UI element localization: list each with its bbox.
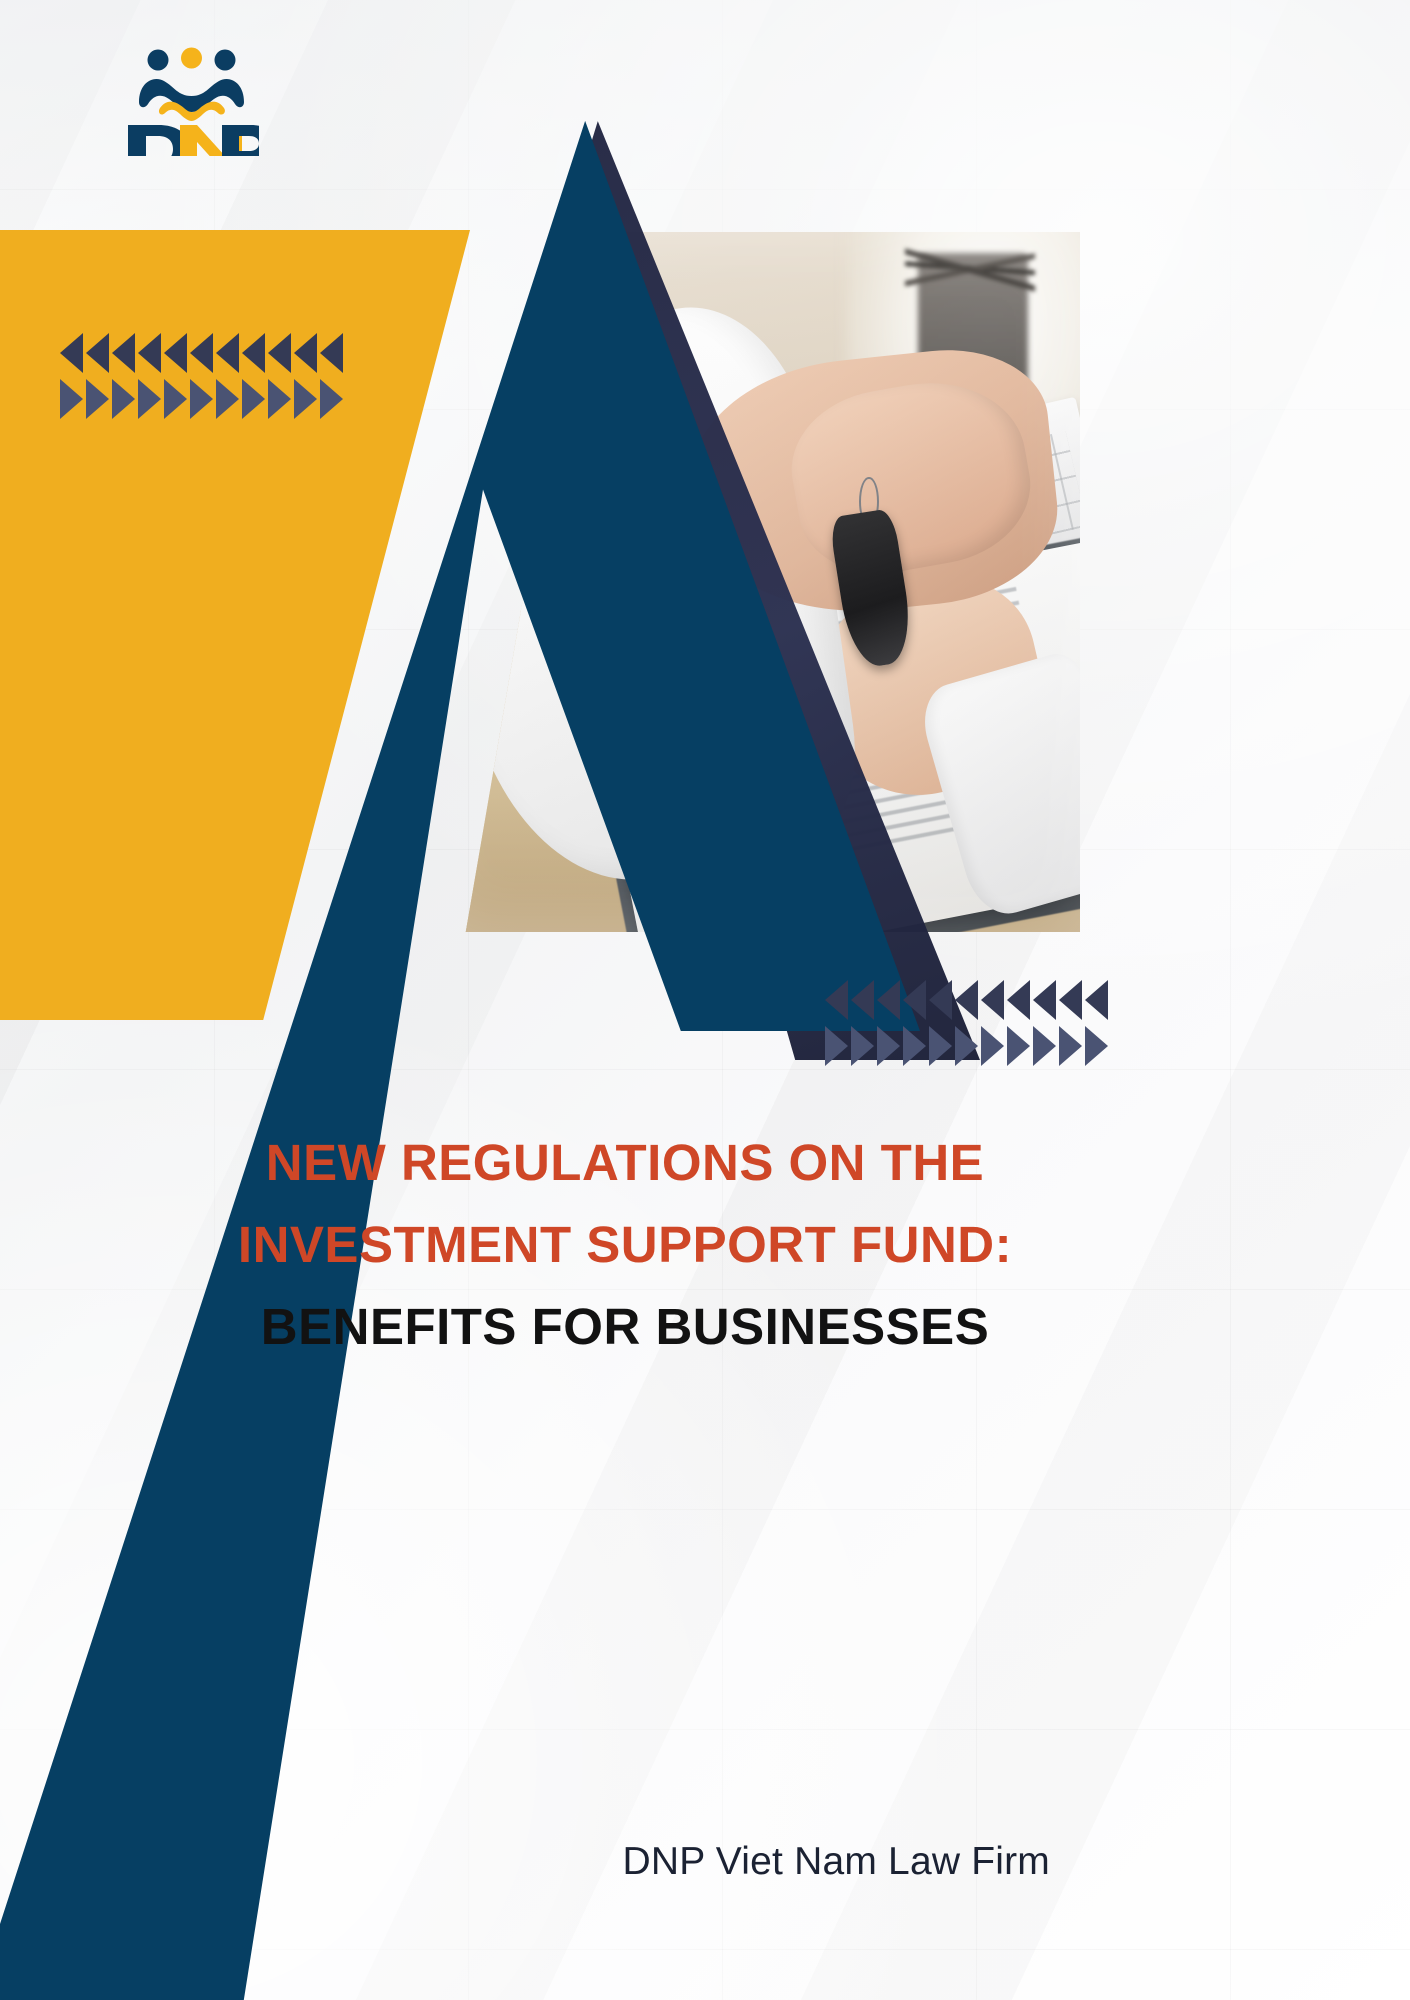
chevron-right-icon bbox=[86, 379, 109, 419]
chevron-right-icon bbox=[320, 379, 343, 419]
chevron-left-icon bbox=[1085, 980, 1108, 1020]
chevron-left-icon bbox=[138, 333, 161, 373]
dnp-logo bbox=[124, 46, 259, 156]
chevron-left-icon bbox=[86, 333, 109, 373]
logo-figure-head-left bbox=[148, 50, 169, 71]
chevron-right-icon bbox=[242, 379, 265, 419]
chevron-left-icon bbox=[1033, 980, 1056, 1020]
chevron-right-icon bbox=[190, 379, 213, 419]
page-title: NEW REGULATIONS ON THE INVESTMENT SUPPOR… bbox=[210, 1122, 1040, 1368]
chevron-left-icon bbox=[112, 333, 135, 373]
chevron-left-icon bbox=[164, 333, 187, 373]
chevron-right-icon bbox=[1059, 1026, 1082, 1066]
chevron-left-icon bbox=[242, 333, 265, 373]
chevron-right-icon bbox=[112, 379, 135, 419]
chevron-left-icon bbox=[60, 333, 83, 373]
chevron-right-icon bbox=[1007, 1026, 1030, 1066]
chevron-left-icon bbox=[903, 980, 926, 1020]
chevron-left-icon bbox=[216, 333, 239, 373]
logo-figure-head-right bbox=[215, 50, 236, 71]
chevron-left-icon bbox=[320, 333, 343, 373]
chevron-left-icon bbox=[825, 980, 848, 1020]
chevron-right-icon bbox=[851, 1026, 874, 1066]
chevron-right-icon bbox=[955, 1026, 978, 1066]
chevron-left-icon bbox=[294, 333, 317, 373]
chevron-right-icon bbox=[929, 1026, 952, 1066]
logo-wordmark bbox=[128, 125, 259, 156]
chevron-row-left bbox=[825, 980, 1108, 1020]
chevron-left-icon bbox=[1059, 980, 1082, 1020]
chevron-left-icon bbox=[190, 333, 213, 373]
chevron-row-right bbox=[825, 1026, 1108, 1066]
chevron-left-icon bbox=[268, 333, 291, 373]
chevron-right-icon bbox=[60, 379, 83, 419]
chevron-left-icon bbox=[851, 980, 874, 1020]
chevron-pattern-bottom bbox=[825, 980, 1108, 1066]
chevron-left-icon bbox=[955, 980, 978, 1020]
chevron-right-icon bbox=[268, 379, 291, 419]
title-line-2: INVESTMENT SUPPORT FUND: bbox=[210, 1204, 1040, 1286]
chevron-left-icon bbox=[1007, 980, 1030, 1020]
publisher-name: DNP Viet Nam Law Firm bbox=[210, 1840, 1050, 1884]
chevron-row-left bbox=[60, 333, 343, 373]
chevron-right-icon bbox=[138, 379, 161, 419]
logo-figure-arms-navy bbox=[139, 79, 244, 112]
chevron-right-icon bbox=[981, 1026, 1004, 1066]
chevron-right-icon bbox=[164, 379, 187, 419]
chevron-right-icon bbox=[216, 379, 239, 419]
chevron-right-icon bbox=[294, 379, 317, 419]
title-line-3: BENEFITS FOR BUSINESSES bbox=[210, 1286, 1040, 1368]
chevron-pattern-top bbox=[60, 333, 343, 419]
chevron-left-icon bbox=[929, 980, 952, 1020]
chevron-right-icon bbox=[877, 1026, 900, 1066]
logo-figure-head-center bbox=[181, 48, 202, 69]
chevron-right-icon bbox=[1033, 1026, 1056, 1066]
chevron-right-icon bbox=[903, 1026, 926, 1066]
chevron-right-icon bbox=[1085, 1026, 1108, 1066]
chevron-right-icon bbox=[825, 1026, 848, 1066]
chevron-left-icon bbox=[981, 980, 1004, 1020]
chevron-left-icon bbox=[877, 980, 900, 1020]
chevron-row-right bbox=[60, 379, 343, 419]
document-cover-page: CONTRACT bbox=[0, 0, 1410, 2000]
title-line-1: NEW REGULATIONS ON THE bbox=[210, 1122, 1040, 1204]
